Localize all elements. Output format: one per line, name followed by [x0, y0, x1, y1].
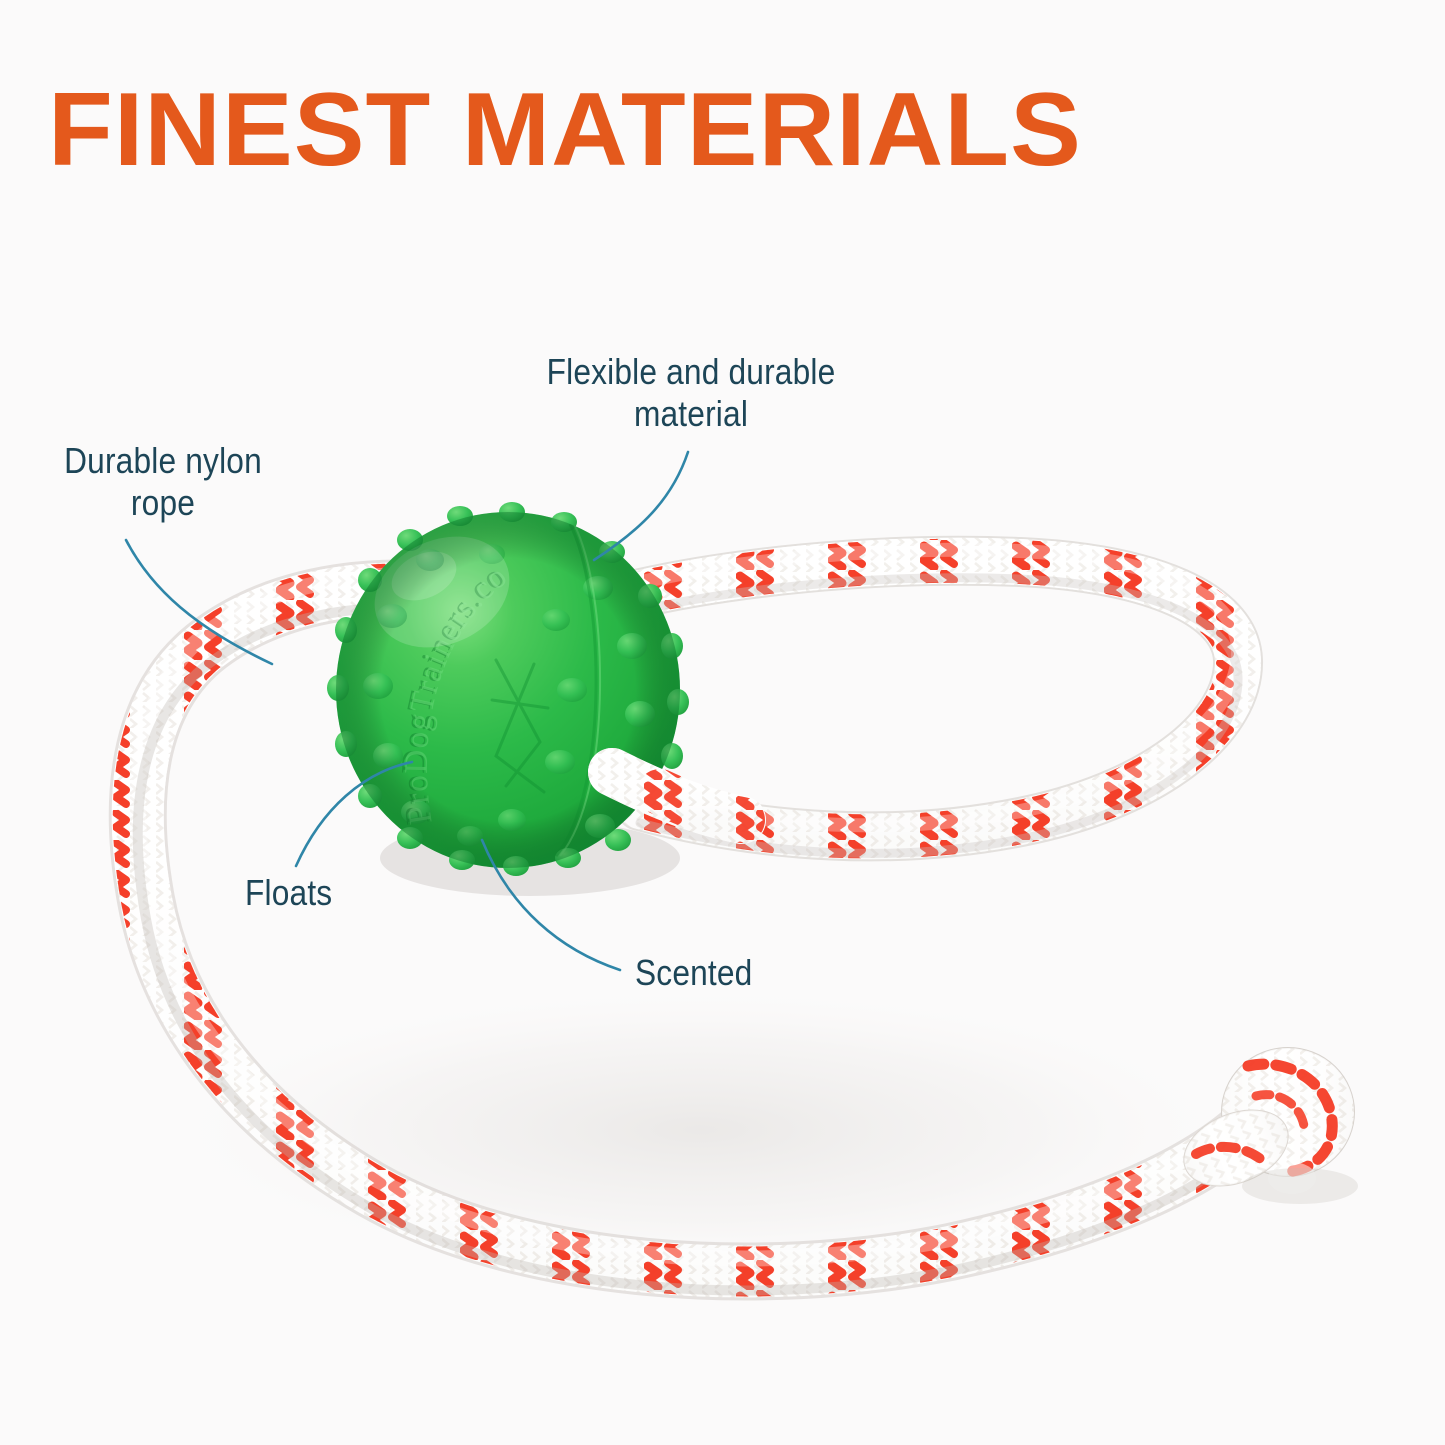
callout-label-material: Flexible and durable material	[519, 351, 862, 436]
callout-label-scented: Scented	[635, 952, 793, 994]
rubber-ball: ProDogTrainers.com ProDogTrainers.com	[0, 0, 689, 876]
product-photo-illustration: ProDogTrainers.com ProDogTrainers.com	[0, 0, 1445, 1445]
callout-label-rope: Durable nylon rope	[35, 440, 290, 525]
callout-label-floats: Floats	[245, 872, 351, 914]
infographic-canvas: FINEST MATERIALS	[0, 0, 1445, 1445]
